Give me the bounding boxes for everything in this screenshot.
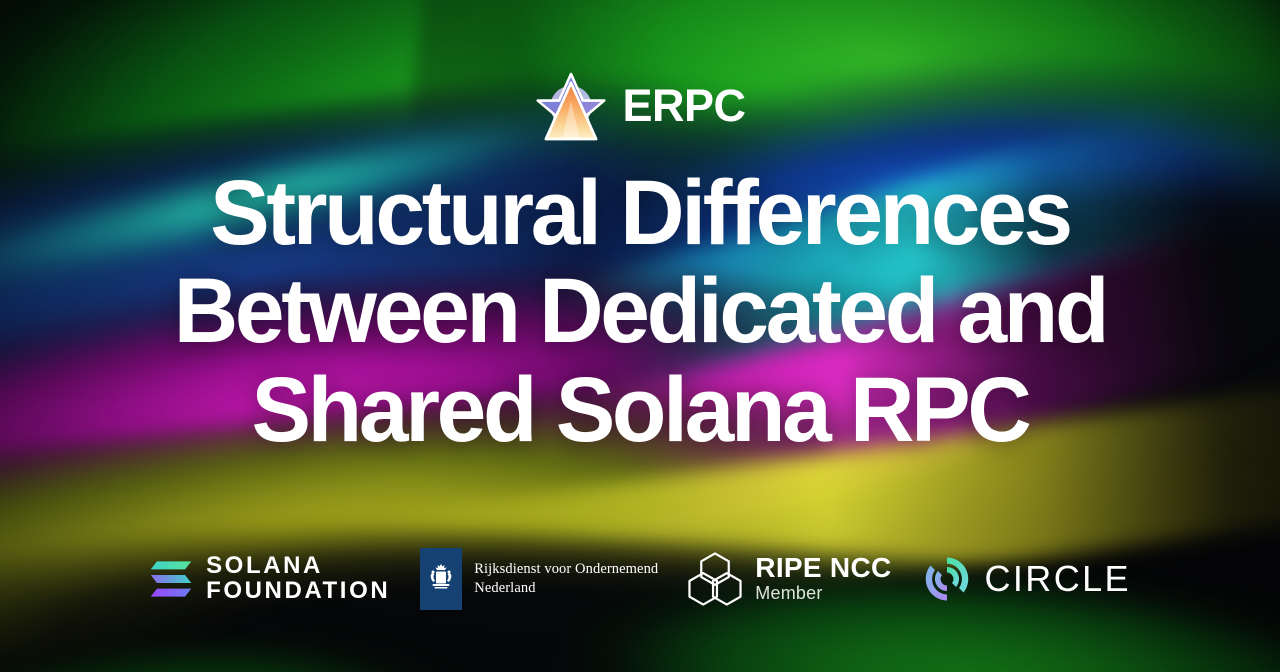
partner-circle: CIRCLE bbox=[922, 554, 1131, 604]
poster-content: ERPC Structural Differences Between Dedi… bbox=[0, 0, 1280, 672]
rvo-line-1: Rijksdienst voor Ondernemend bbox=[474, 560, 658, 579]
rvo-blue-panel bbox=[420, 548, 462, 610]
ripe-ncc-wordmark: RIPE NCC Member bbox=[755, 553, 891, 605]
ripe-hexagons-icon bbox=[688, 551, 742, 607]
partner-logo-strip: SOLANA FOUNDATION bbox=[0, 548, 1280, 610]
solana-line-2: FOUNDATION bbox=[206, 579, 390, 604]
solana-line-1: SOLANA bbox=[206, 554, 390, 579]
dutch-coat-of-arms-icon bbox=[426, 562, 456, 596]
solana-bars-icon bbox=[149, 559, 193, 599]
rvo-wordmark: Rijksdienst voor Ondernemend Nederland bbox=[474, 560, 658, 598]
headline: Structural Differences Between Dedicated… bbox=[19, 164, 1261, 459]
ripe-ncc-title: RIPE NCC bbox=[755, 553, 891, 582]
headline-line-2: Between Dedicated and bbox=[19, 262, 1261, 360]
rvo-line-2: Nederland bbox=[474, 579, 658, 598]
partner-solana-foundation: SOLANA FOUNDATION bbox=[149, 554, 390, 604]
headline-line-3: Shared Solana RPC bbox=[19, 361, 1261, 459]
ripe-ncc-subtitle: Member bbox=[755, 583, 891, 605]
poster-canvas: ERPC Structural Differences Between Dedi… bbox=[0, 0, 1280, 672]
partner-ripe-ncc: RIPE NCC Member bbox=[688, 551, 891, 607]
brand-lockup: ERPC bbox=[534, 68, 745, 142]
solana-foundation-wordmark: SOLANA FOUNDATION bbox=[206, 554, 390, 604]
erpc-triangle-star-icon bbox=[534, 68, 608, 142]
brand-name: ERPC bbox=[622, 83, 745, 128]
circle-arcs-icon bbox=[922, 554, 972, 604]
circle-wordmark: CIRCLE bbox=[985, 561, 1131, 597]
headline-line-1: Structural Differences bbox=[19, 164, 1261, 262]
partner-rijksdienst-voor-ondernemend-nederland: Rijksdienst voor Ondernemend Nederland bbox=[420, 548, 658, 610]
